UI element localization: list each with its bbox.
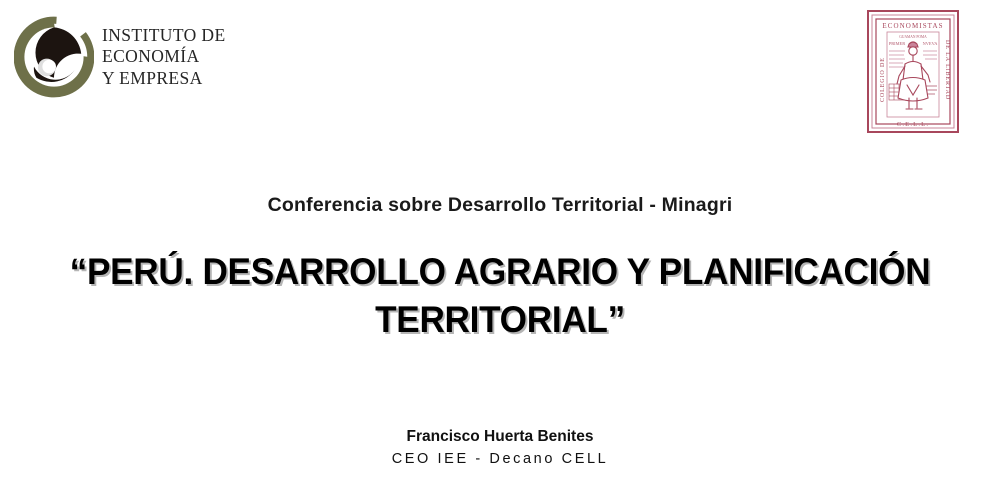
svg-text:DE LA LIBERTAD: DE LA LIBERTAD bbox=[944, 40, 950, 100]
title-line-1: “PERÚ. DESARROLLO AGRARIO Y PLANIFICACIÓ… bbox=[54, 248, 947, 296]
title-line-2: TERRITORIAL” bbox=[54, 296, 947, 344]
page-title: “PERÚ. DESARROLLO AGRARIO Y PLANIFICACIÓ… bbox=[54, 248, 947, 344]
svg-text:PRIMER: PRIMER bbox=[889, 41, 905, 46]
iee-wordmark-line-2: ECONOMÍA bbox=[102, 46, 226, 67]
cell-emblem-icon: ECONOMISTAS COLEGIO DE DE LA LIBERTAD C.… bbox=[867, 10, 959, 133]
iee-wordmark-line-1: INSTITUTO DE bbox=[102, 25, 226, 46]
iee-wordmark: INSTITUTO DE ECONOMÍA Y EMPRESA bbox=[102, 25, 226, 89]
conference-subtitle: Conferencia sobre Desarrollo Territorial… bbox=[0, 194, 1000, 217]
svg-text:NVEVA: NVEVA bbox=[923, 41, 939, 46]
title-slide: INSTITUTO DE ECONOMÍA Y EMPRESA ECONOMIS… bbox=[0, 0, 1000, 490]
iee-logo: INSTITUTO DE ECONOMÍA Y EMPRESA bbox=[14, 16, 226, 98]
speaker-role: CEO IEE - Decano CELL bbox=[0, 449, 1000, 469]
iee-wordmark-line-3: Y EMPRESA bbox=[102, 68, 226, 89]
iee-crescent-circle-logo-icon bbox=[14, 16, 94, 98]
speaker-block: Francisco Huerta Benites CEO IEE - Decan… bbox=[0, 427, 1000, 469]
svg-text:C.E.L.L.: C.E.L.L. bbox=[897, 121, 929, 128]
speaker-name: Francisco Huerta Benites bbox=[0, 427, 1000, 448]
svg-text:GUAMAN POMA: GUAMAN POMA bbox=[899, 35, 927, 39]
svg-text:ECONOMISTAS: ECONOMISTAS bbox=[882, 22, 943, 30]
svg-text:COLEGIO DE: COLEGIO DE bbox=[880, 57, 886, 102]
